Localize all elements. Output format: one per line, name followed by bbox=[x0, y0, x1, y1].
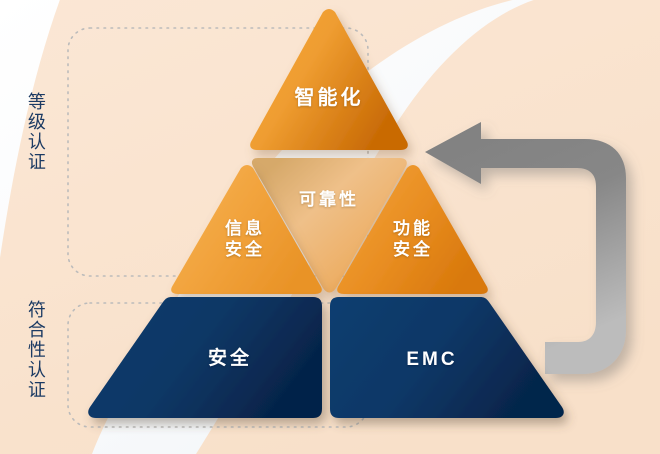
tier-bottom-emc-shape[interactable] bbox=[330, 297, 564, 418]
side-label-level-certification: 等级认证 bbox=[26, 92, 45, 172]
diagram-shapes-layer bbox=[0, 0, 660, 454]
tier-bottom-safety-shape[interactable] bbox=[88, 297, 322, 418]
tier-top-intelligent-shape[interactable] bbox=[250, 9, 408, 150]
diagram-canvas: 等级认证 符合性认证 智能化 可靠性 信息 安全 功能 安全 安全 EMC bbox=[0, 0, 660, 454]
side-label-conformity-certification: 符合性认证 bbox=[26, 300, 45, 400]
